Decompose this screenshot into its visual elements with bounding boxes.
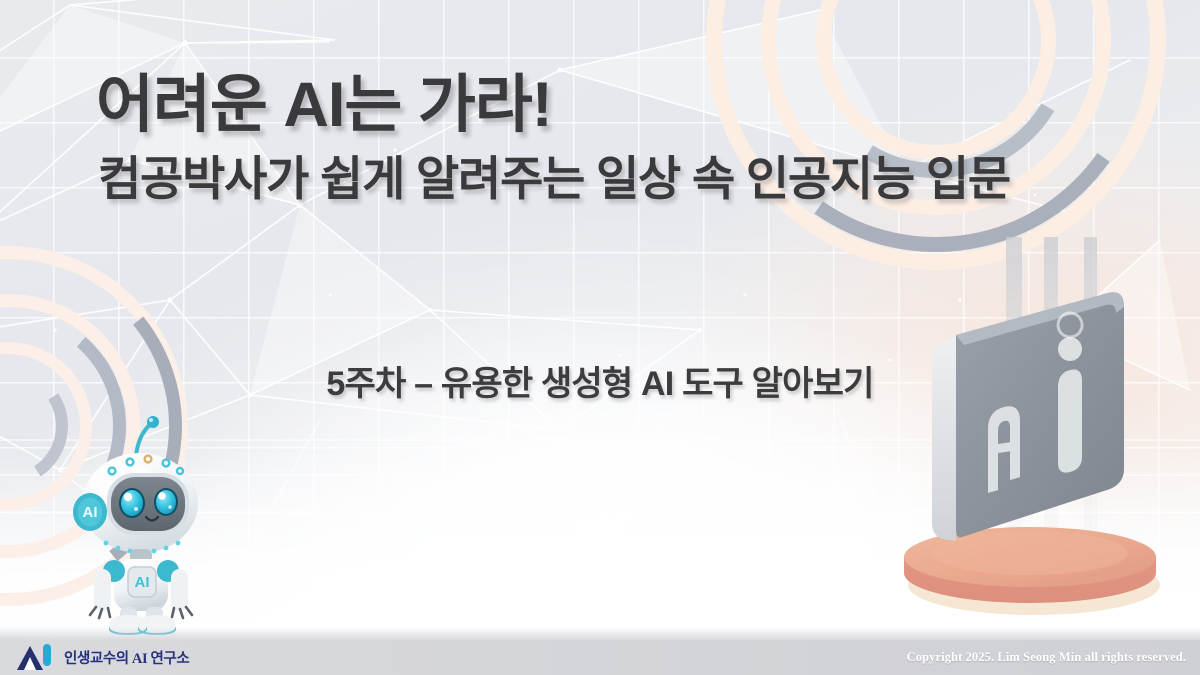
lab-logo-icon — [17, 644, 55, 671]
lab-name: 인생교수의 AI 연구소 — [64, 647, 189, 668]
presentation-slide: 어려운 AI는 가라! 컴공박사가 쉽게 알려주는 일상 속 인공지능 입문 5… — [0, 0, 1200, 675]
slide-footer: 인생교수의 AI 연구소 Copyright 2025. Lim Seong M… — [0, 640, 1200, 675]
robot-ear-badge: AI — [73, 493, 107, 531]
page-subtitle: 컴공박사가 쉽게 알려주는 일상 속 인공지능 입문 — [98, 154, 1156, 205]
robot-chest-badge: AI — [128, 567, 156, 597]
robot-antenna — [136, 416, 159, 455]
headline-block: 어려운 AI는 가라! 컴공박사가 쉽게 알려주는 일상 속 인공지능 입문 — [96, 72, 1156, 205]
page-title: 어려운 AI는 가라! — [96, 72, 1156, 138]
robot-arm-right — [171, 569, 188, 611]
brand-lockup: 인생교수의 AI 연구소 — [17, 644, 189, 671]
ai-panel-illustration — [878, 237, 1178, 637]
robot-arm-left — [94, 569, 111, 611]
copyright-text: Copyright 2025. Lim Seong Min all rights… — [907, 650, 1186, 665]
robot-chest-badge-label: AI — [135, 574, 150, 591]
robot-ear-badge-label: AI — [83, 504, 98, 521]
robot-mascot: AI — [62, 407, 222, 637]
